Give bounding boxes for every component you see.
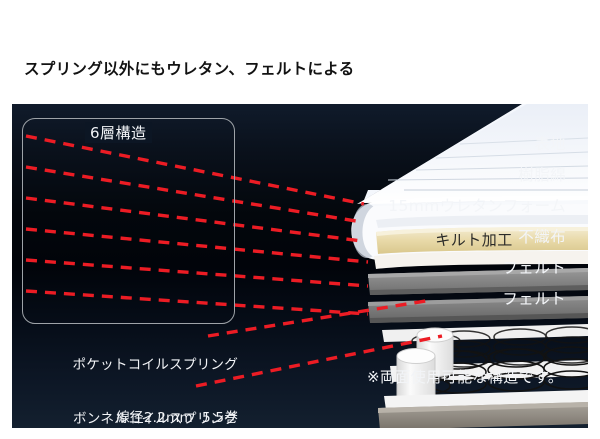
layer-label-jushimen: 樹脂綿: [518, 163, 566, 185]
diagram-panel: キルト加工 6層構造 表地 樹脂綿 15mmウレタンフォーム 不織布 フェルト …: [12, 104, 588, 428]
six-layer-box: 6層構造: [22, 118, 235, 324]
layer-label-fushokufu: 不織布: [518, 225, 566, 247]
layer-label-felt-1: フェルト: [502, 256, 566, 278]
six-layer-title: 6層構造: [85, 122, 152, 143]
bonnell-coil-label: ボンネルコイルスプリング 線径2.1mm 5巻: [12, 376, 238, 428]
layer-label-felt-2: フェルト: [502, 287, 566, 309]
quilt-label: キルト加工: [435, 231, 513, 249]
double-sided-caption: ※両面使用可能な構造です。: [367, 366, 563, 387]
pocket-coil-line-1: ポケットコイルスプリング: [12, 357, 238, 375]
layer-label-omote: 表地: [534, 132, 566, 154]
layer-label-urethane: 15mmウレタンフォーム: [388, 194, 566, 216]
intro-line-1: スプリング以外にもウレタン、フェルトによる: [24, 57, 584, 83]
mattress-construction-diagram: スプリング以外にもウレタン、フェルトによる クッション性も備えており、バネつきが…: [0, 0, 600, 439]
bonnell-coil-line-1: ボンネルコイルスプリング: [12, 411, 238, 428]
